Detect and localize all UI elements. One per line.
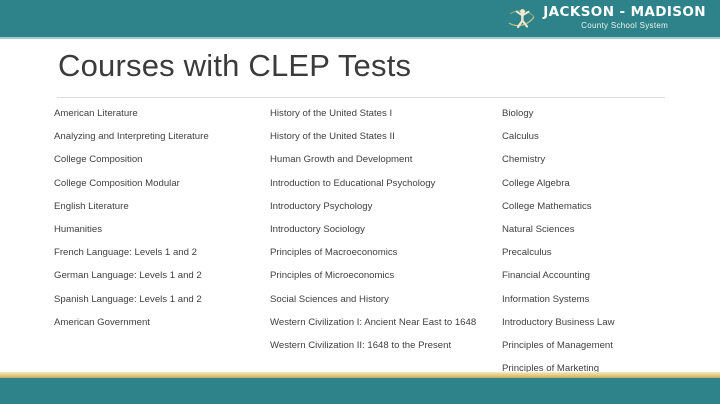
- course-item: College Algebra: [502, 178, 702, 190]
- course-item: Introductory Psychology: [270, 201, 492, 213]
- course-item: History of the United States I: [270, 108, 492, 120]
- course-item: Western Civilization I: Ancient Near Eas…: [270, 317, 492, 329]
- course-item: History of the United States II: [270, 131, 492, 143]
- course-item: Introductory Business Law: [502, 317, 702, 329]
- title-divider: [57, 97, 665, 98]
- course-item: College Composition Modular: [54, 178, 259, 190]
- course-item: American Literature: [54, 108, 259, 120]
- brand-logo: JACKSON - MADISON County School System: [507, 4, 706, 32]
- course-item: English Literature: [54, 201, 259, 213]
- course-column-2: History of the United States IHistory of…: [270, 108, 492, 363]
- page-title: Courses with CLEP Tests: [58, 48, 411, 84]
- course-item: Calculus: [502, 131, 702, 143]
- course-item: College Composition: [54, 154, 259, 166]
- course-item: College Mathematics: [502, 201, 702, 213]
- slide: JACKSON - MADISON County School System C…: [0, 0, 720, 404]
- course-item: Natural Sciences: [502, 224, 702, 236]
- course-item: Western Civilization II: 1648 to the Pre…: [270, 340, 492, 352]
- course-item: French Language: Levels 1 and 2: [54, 247, 259, 259]
- brand-subtitle: County School System: [581, 22, 668, 30]
- course-item: American Government: [54, 317, 259, 329]
- course-item: Principles of Management: [502, 340, 702, 352]
- header-band-edge: [0, 37, 720, 39]
- course-item: Information Systems: [502, 294, 702, 306]
- course-item: Analyzing and Interpreting Literature: [54, 131, 259, 143]
- brand-logo-text: JACKSON - MADISON County School System: [543, 6, 706, 31]
- course-column-1: American LiteratureAnalyzing and Interpr…: [54, 108, 259, 340]
- footer-band: [0, 378, 720, 404]
- course-item: Chemistry: [502, 154, 702, 166]
- course-item: Social Sciences and History: [270, 294, 492, 306]
- course-column-3: BiologyCalculusChemistryCollege AlgebraC…: [502, 108, 702, 386]
- course-item: Precalculus: [502, 247, 702, 259]
- course-item: Financial Accounting: [502, 270, 702, 282]
- course-item: Humanities: [54, 224, 259, 236]
- course-item: German Language: Levels 1 and 2: [54, 270, 259, 282]
- course-item: Biology: [502, 108, 702, 120]
- running-figure-icon: [507, 4, 537, 32]
- course-item: Human Growth and Development: [270, 154, 492, 166]
- course-item: Principles of Microeconomics: [270, 270, 492, 282]
- course-item: Introduction to Educational Psychology: [270, 178, 492, 190]
- course-item: Principles of Macroeconomics: [270, 247, 492, 259]
- brand-title: JACKSON - MADISON: [543, 6, 706, 20]
- course-item: Spanish Language: Levels 1 and 2: [54, 294, 259, 306]
- course-item: Introductory Sociology: [270, 224, 492, 236]
